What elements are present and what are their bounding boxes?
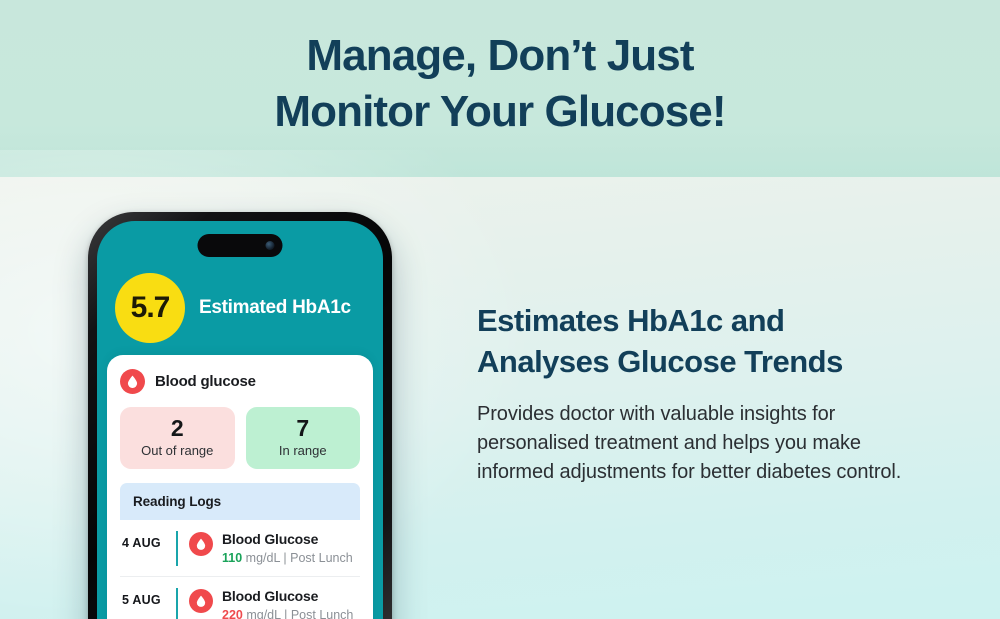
in-range-label: In range — [252, 443, 355, 458]
reading-log-unit: mg/dL — [246, 551, 280, 565]
reading-log-name: Blood Glucose — [222, 588, 358, 605]
content-sheet: Blood glucose 2 Out of range 7 In range … — [107, 355, 373, 619]
reading-log-value: 220 — [222, 608, 243, 619]
blood-glucose-card-title: Blood glucose — [155, 373, 256, 390]
hba1c-label: Estimated HbA1c — [199, 297, 351, 319]
stat-card-in-range[interactable]: 7 In range — [246, 407, 361, 469]
reading-logs-header: Reading Logs — [120, 483, 360, 520]
reading-log-date: 4 AUG — [122, 531, 176, 550]
blood-glucose-card-header: Blood glucose — [120, 369, 360, 394]
headline-line-2: Monitor Your Glucose! — [0, 84, 1000, 140]
page-headline: Manage, Don’t Just Monitor Your Glucose! — [0, 28, 1000, 141]
feature-title-line-2: Analyses Glucose Trends — [477, 341, 917, 382]
promo-banner: Manage, Don’t Just Monitor Your Glucose!… — [0, 0, 1000, 619]
blood-drop-icon — [120, 369, 145, 394]
reading-log-separator: | — [281, 608, 291, 619]
headline-line-1: Manage, Don’t Just — [306, 31, 693, 80]
reading-log-divider — [176, 588, 178, 619]
out-of-range-count: 2 — [126, 416, 229, 440]
hba1c-value: 5.7 — [131, 291, 170, 325]
reading-log-context: Post Lunch — [290, 551, 353, 565]
feature-copy-block: Estimates HbA1c and Analyses Glucose Tre… — [477, 300, 917, 487]
reading-log-value: 110 — [222, 551, 242, 565]
feature-title: Estimates HbA1c and Analyses Glucose Tre… — [477, 300, 917, 382]
blood-drop-icon — [189, 589, 213, 613]
range-stats-row: 2 Out of range 7 In range — [120, 407, 360, 469]
reading-log-body: Blood Glucose 110 mg/dL | Post Lunch — [222, 531, 358, 566]
reading-log-row[interactable]: 4 AUG Blood Glucose 110 mg/dL | Post Lun… — [120, 520, 360, 576]
front-camera-icon — [266, 241, 275, 250]
reading-log-row[interactable]: 5 AUG Blood Glucose 220 mg/dL | Post Lun… — [120, 576, 360, 619]
feature-title-line-1: Estimates HbA1c and — [477, 303, 785, 338]
feature-body-text: Provides doctor with valuable insights f… — [477, 400, 917, 487]
phone-screen: 5.7 Estimated HbA1c Blood glucose 2 — [97, 221, 383, 619]
reading-log-name: Blood Glucose — [222, 531, 358, 548]
reading-log-context: Post Lunch — [291, 608, 354, 619]
estimated-hba1c-header: 5.7 Estimated HbA1c — [97, 273, 383, 343]
phone-mockup: 5.7 Estimated HbA1c Blood glucose 2 — [88, 212, 392, 619]
in-range-count: 7 — [252, 416, 355, 440]
reading-log-body: Blood Glucose 220 mg/dL | Post Lunch — [222, 588, 358, 619]
reading-log-unit: mg/dL — [246, 608, 280, 619]
reading-log-meta: 110 mg/dL | Post Lunch — [222, 551, 358, 566]
reading-log-separator: | — [280, 551, 290, 565]
hba1c-value-badge: 5.7 — [115, 273, 185, 343]
reading-log-date: 5 AUG — [122, 588, 176, 607]
reading-log-meta: 220 mg/dL | Post Lunch — [222, 608, 358, 619]
dynamic-island — [198, 234, 283, 257]
reading-log-divider — [176, 531, 178, 566]
stat-card-out-of-range[interactable]: 2 Out of range — [120, 407, 235, 469]
out-of-range-label: Out of range — [126, 443, 229, 458]
blood-drop-icon — [189, 532, 213, 556]
